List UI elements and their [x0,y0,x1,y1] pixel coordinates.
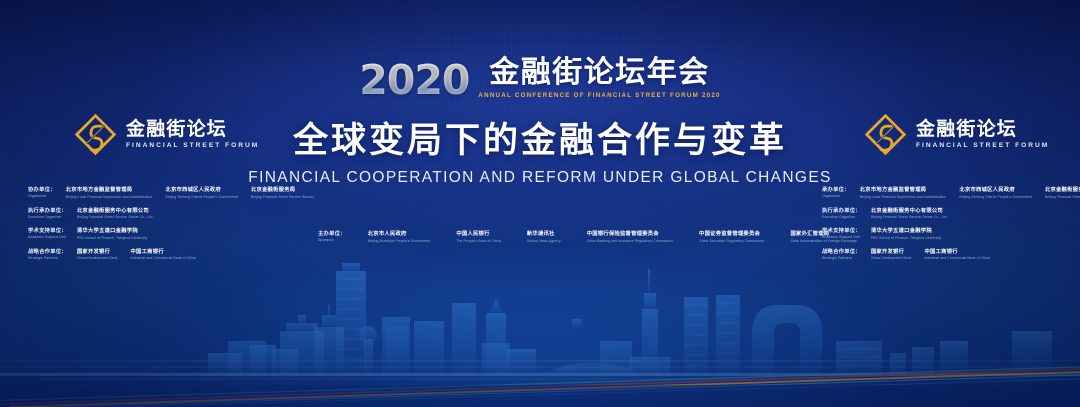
credit-row: 承办单位：Organizers北京市地方金融监督管理局Beijing Local… [822,185,1072,199]
credit-item-en: Beijing Xicheng District People's Govern… [959,195,1032,199]
credit-item: 中国证券监督管理委员会China Securities Regulatory C… [699,229,764,243]
credit-item-en: China Banking and Insurance Regulatory C… [587,239,673,243]
credit-item-cn: 北京金融街服务局 [251,185,314,193]
financial-street-forum-diamond-icon [74,113,117,156]
credit-item: 中国银行保险监督管理委员会China Banking and Insurance… [587,229,673,243]
credit-item-en: Beijing Local Financial Supervision and … [860,195,947,199]
credit-item: 新华通讯社Xinhua News Agency [527,229,561,243]
credit-item-en: Industrial and Commercial Bank of China [131,256,197,260]
forum-logo-name-en: FINANCIAL STREET FORUM [126,142,259,149]
credit-label: 执行承办单位：Executive Organizer [28,206,67,219]
credit-label-cn: 学术支持单位： [822,226,861,234]
credit-label-cn: 主办单位： [318,229,346,237]
credit-item-en: China Securities Regulatory Commission [699,239,764,243]
credit-label-en: Organizers [28,194,56,198]
credit-label: 协办单位：Organizers [28,185,56,198]
credit-label: 执行承办单位：Executive Organizer [822,206,861,219]
credit-label: 战略合作单位：Strategic Partners [28,247,67,260]
credit-label: 学术支持单位：Academic Support Unit [28,226,67,239]
credit-item-cn: 中国工商银行 [131,247,197,255]
credit-item-en: Beijing Financial Street Service Bureau [251,195,314,199]
credit-item-cn: 北京金融街服务中心有限公司 [871,206,948,214]
credit-item: 北京市地方金融监督管理局Beijing Local Financial Supe… [860,185,947,199]
credit-item: 清华大学五道口金融学院PBC School of Finance, Tsingh… [871,226,941,240]
credit-item-cn: 中国工商银行 [925,247,991,255]
credit-item-en: Beijing Local Financial Supervision and … [66,195,153,199]
credit-item-cn: 北京市地方金融监督管理局 [860,185,947,193]
credit-item: 北京市西城区人民政府Beijing Xicheng District Peopl… [165,185,238,199]
credit-item-cn: 清华大学五道口金融学院 [77,226,147,234]
theme-headline-cn: 全球变局下的金融合作与变革 [293,121,787,160]
credit-item-cn: 北京市西城区人民政府 [165,185,238,193]
credit-label-en: Organizers [822,194,850,198]
credit-item-list: 北京市地方金融监督管理局Beijing Local Financial Supe… [66,185,318,199]
financial-street-forum-diamond-icon [864,113,907,156]
credit-item: 北京金融街服务局Beijing Financial Street Service… [1045,185,1080,199]
theme-headline-en: FINANCIAL COOPERATION AND REFORM UNDER G… [248,169,831,187]
credit-item-cn: 中国人民银行 [456,229,501,237]
credit-item: 北京市人民政府Beijing Municipal People's Govern… [368,229,431,243]
credit-label-cn: 学术支持单位： [28,226,67,234]
credit-item-en: Beijing Municipal People's Government [368,239,431,243]
credit-label-en: Academic Support Unit [822,235,861,239]
light-streaks-graphic [0,339,1080,407]
credit-item-en: Beijing Financial Street Service Bureau [1045,195,1080,199]
credit-label-en: Strategic Partners [822,256,861,260]
forum-logo-right: 金融街论坛 FINANCIAL STREET FORUM [864,113,1049,156]
credit-item: 中国工商银行Industrial and Commercial Bank of … [131,247,197,261]
credit-label: 主办单位：Sponsors [318,229,346,242]
credit-item-list: 北京金融街服务中心有限公司Beijing Financial Street Se… [77,206,318,220]
credit-item-cn: 中国证券监督管理委员会 [699,229,764,237]
credit-item: 国家开发银行China Development Bank [871,247,912,261]
credit-row: 学术支持单位：Academic Support Unit清华大学五道口金融学院P… [822,226,1072,240]
credit-item-cn: 北京市人民政府 [368,229,431,237]
credit-row: 战略合作单位：Strategic Partners国家开发银行China Dev… [28,247,318,261]
event-title-row: 2020 金融街论坛年会 ANNUAL CONFERENCE OF FINANC… [359,58,720,100]
credit-label-cn: 执行承办单位： [28,206,67,214]
credit-label: 战略合作单位：Strategic Partners [822,247,861,260]
credit-label-en: Academic Support Unit [28,235,67,239]
credit-item: 中国人民银行The People's Bank of China [456,229,501,243]
credit-item: 北京金融街服务局Beijing Financial Street Service… [251,185,314,199]
credit-item-en: Beijing Financial Street Service Center … [871,215,948,219]
credit-item-cn: 国家开发银行 [77,247,118,255]
credit-item: 国家开发银行China Development Bank [77,247,118,261]
credit-label-cn: 协办单位： [28,185,56,193]
credit-item-en: China Development Bank [77,256,118,260]
credit-item-en: China Development Bank [871,256,912,260]
credit-item-list: 清华大学五道口金融学院PBC School of Finance, Tsingh… [871,226,1072,240]
credit-row: 执行承办单位：Executive Organizer北京金融街服务中心有限公司B… [28,206,318,220]
forum-logo-left: 金融街论坛 FINANCIAL STREET FORUM [74,113,259,156]
credit-label-en: Executive Organizer [822,215,861,219]
credit-item-cn: 新华通讯社 [527,229,561,237]
credit-item: 北京市西城区人民政府Beijing Xicheng District Peopl… [959,185,1032,199]
credit-item-en: PBC School of Finance, Tsinghua Universi… [77,236,147,240]
credit-item-cn: 北京市地方金融监督管理局 [66,185,153,193]
conference-backdrop: 2020 金融街论坛年会 ANNUAL CONFERENCE OF FINANC… [0,0,1080,407]
forum-logo-name-cn: 金融街论坛 [126,120,259,140]
event-year: 2020 [359,62,469,100]
forum-logo-name-en: FINANCIAL STREET FORUM [916,142,1049,149]
credit-item-list: 国家开发银行China Development Bank中国工商银行Indust… [77,247,318,261]
credit-label-en: Sponsors [318,238,346,242]
credit-item: 北京金融街服务中心有限公司Beijing Financial Street Se… [871,206,948,220]
credit-label: 学术支持单位：Academic Support Unit [822,226,861,239]
credit-row: 主办单位：Sponsors北京市人民政府Beijing Municipal Pe… [318,229,778,243]
credit-item-list: 北京金融街服务中心有限公司Beijing Financial Street Se… [871,206,1072,220]
forum-logo-name-cn: 金融街论坛 [916,120,1049,140]
credit-item-cn: 北京金融街服务中心有限公司 [77,206,154,214]
credit-item-cn: 北京金融街服务局 [1045,185,1080,193]
credit-item-en: Beijing Xicheng District People's Govern… [165,195,238,199]
credits-block-center: 主办单位：Sponsors北京市人民政府Beijing Municipal Pe… [318,229,778,250]
credit-item-en: PBC School of Finance, Tsinghua Universi… [871,236,941,240]
credit-item: 北京市地方金融监督管理局Beijing Local Financial Supe… [66,185,153,199]
credit-item-en: Industrial and Commercial Bank of China [925,256,991,260]
credit-label-cn: 执行承办单位： [822,206,861,214]
credit-label-en: Strategic Partners [28,256,67,260]
credit-row: 学术支持单位：Academic Support Unit清华大学五道口金融学院P… [28,226,318,240]
headline-lockup: 2020 金融街论坛年会 ANNUAL CONFERENCE OF FINANC… [0,0,1080,187]
credit-item-cn: 清华大学五道口金融学院 [871,226,941,234]
credit-item-list: 国家开发银行China Development Bank中国工商银行Indust… [871,247,1072,261]
credit-label-cn: 战略合作单位： [822,247,861,255]
credit-item-en: Xinhua News Agency [527,239,561,243]
event-title-cn: 金融街论坛年会 [489,58,710,88]
credit-item-list: 北京市人民政府Beijing Municipal People's Govern… [368,229,883,243]
credit-item: 中国工商银行Industrial and Commercial Bank of … [925,247,991,261]
credit-item: 北京金融街服务中心有限公司Beijing Financial Street Se… [77,206,154,220]
credits-block-right: 承办单位：Organizers北京市地方金融监督管理局Beijing Local… [822,185,1072,267]
credit-item: 清华大学五道口金融学院PBC School of Finance, Tsingh… [77,226,147,240]
credit-item-en: Beijing Financial Street Service Center … [77,215,154,219]
credit-item-en: The People's Bank of China [456,239,501,243]
credits-block-left: 协办单位：Organizers北京市地方金融监督管理局Beijing Local… [28,185,318,267]
credit-item-cn: 北京市西城区人民政府 [959,185,1032,193]
credit-item-list: 清华大学五道口金融学院PBC School of Finance, Tsingh… [77,226,318,240]
event-title-en: ANNUAL CONFERENCE OF FINANCIAL STREET FO… [478,92,720,99]
credit-row: 协办单位：Organizers北京市地方金融监督管理局Beijing Local… [28,185,318,199]
credit-row: 战略合作单位：Strategic Partners国家开发银行China Dev… [822,247,1072,261]
credit-item-cn: 国家开发银行 [871,247,912,255]
credit-item-cn: 中国银行保险监督管理委员会 [587,229,673,237]
credit-item-list: 北京市地方金融监督管理局Beijing Local Financial Supe… [860,185,1080,199]
credit-label-cn: 战略合作单位： [28,247,67,255]
credit-label-cn: 承办单位： [822,185,850,193]
credit-label-en: Executive Organizer [28,215,67,219]
credit-row: 执行承办单位：Executive Organizer北京金融街服务中心有限公司B… [822,206,1072,220]
credit-label: 承办单位：Organizers [822,185,850,198]
